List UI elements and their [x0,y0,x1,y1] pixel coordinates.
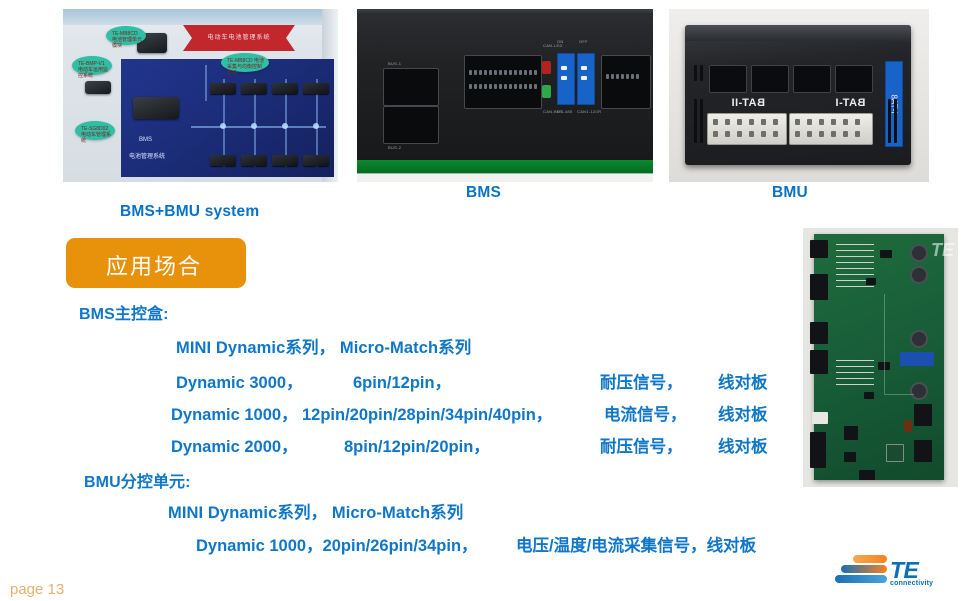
poster-bms-label-cn: 电池管理系统 [129,151,165,160]
poster-diagram-panel: BMS 电池管理系统 [121,59,334,177]
bms-led-green [542,85,551,98]
pcb-ic-2 [866,278,876,285]
poster-module-6 [241,155,267,166]
pcb-ic-1 [880,250,892,258]
bms-row-1-pins: 6pin/12pin， [353,369,451,393]
bmu-black-connector-3 [793,65,831,93]
bmu-top-face [685,25,911,41]
bmu-black-connector-1 [709,65,747,93]
bms-row-3-type: 线对板 [718,433,768,457]
bmu-white-connector-bat2 [707,113,787,145]
pcb-board [814,234,944,480]
bmu-vent-3 [694,99,697,143]
te-connectivity-logo: TE connectivity [833,553,933,593]
bmu-black-connector-2 [751,65,789,93]
pcb-pad-row-13 [836,384,874,385]
poster-callout-1: TE-MB8CD 电池管理单元模块 [106,26,146,45]
pcb-blue-connector [900,352,934,366]
bmu-vent-4 [700,99,703,143]
bmu-black-connector-4 [835,65,873,93]
caption-bms-bmu-system: BMS+BMU system [120,203,259,221]
poster-callout-2-text: TE-BMP-V1 电动车运用监控系统 [78,61,108,79]
bms-front-face: BUS-1 BUS-2 CAN-LED CAN-BUS RS-485 CAN1-… [357,13,653,160]
pcb-connector-bottom [859,470,875,480]
poster-module-2 [241,83,267,94]
caption-bms: BMS [466,184,501,202]
bms-row-3-series: Dynamic 2000， [171,433,298,457]
bms-signal-pinrow-top [469,70,537,75]
poster-branch-5 [205,65,207,101]
logo-bar-orange-bottom [841,565,887,573]
bms-silk-rs485: RS-485 [557,109,572,114]
poster-module-8 [303,155,329,166]
poster-module-7 [272,155,298,166]
caption-bmu: BMU [772,184,808,202]
bmu-vent-1 [694,65,697,81]
pcb-pad-row-11 [836,372,874,373]
bmu-white-connector-bat1 [789,113,873,145]
bms-silk-on: ON [557,39,564,44]
logo-bar-blue [835,575,887,583]
poster-callout-4-text: TE-MB8CD 电池采集与均衡控制模块 [227,58,265,76]
te-watermark: TE [931,240,954,261]
bmu-row-0-series: MINI Dynamic系列， Micro-Match系列 [168,499,463,523]
section-tab-application[interactable]: 应用场合 [66,238,246,288]
poster-node-4 [313,123,319,129]
pcb-pad-row-4 [836,262,874,263]
bms-row-1-signal: 耐压信号， [600,369,683,393]
bms-row-3-signal: 耐压信号， [600,433,683,457]
pcb-capacitor [904,420,912,432]
bms-row-3-pins: 8pin/12pin/20pin， [344,433,490,457]
bms-silk-off: OFF [579,39,588,44]
poster-device-photo-2 [85,81,111,94]
bmu-label-bat2: BAT-II [731,97,765,109]
pcb-ic-4 [864,392,874,399]
bmu-pcb-board-photo: TE [803,228,958,487]
bmu-label-bat1: BAT-I [835,97,865,109]
poster-top-band [63,9,338,25]
bms-silk-bus2: BUS-2 [388,145,401,150]
bms-row-2-type: 线对板 [718,401,768,425]
poster-node-3 [282,123,288,129]
poster-bms-label-en: BMS [139,137,152,143]
pcb-pad-row-2 [836,250,874,251]
bmu-module-photo: BAT-II BAT-I I-TA8 [669,9,929,182]
bmu-vent-5 [888,99,891,143]
bms-comm-connector [601,55,651,109]
pcb-mcu [844,426,858,440]
bms-row-2-signal: 电流信号， [604,401,687,425]
bms-controller-photo: BUS-1 BUS-2 CAN-LED CAN-BUS RS-485 CAN1-… [357,9,653,182]
exhibition-poster-photo: 电动车电池管理系统 BMS 电池管理系统 [63,9,338,182]
section-tab-label: 应用场合 [106,249,202,281]
bmu-row-1-signal: 电压/温度/电流采集信号，线对板 [516,532,756,556]
pcb-ic-5 [844,452,856,462]
poster-callout-2: TE-BMP-V1 电动车运用监控系统 [72,56,112,75]
poster-callout-4: TE-MB8CD 电池采集与均衡控制模块 [221,53,269,72]
bms-row-2-pins: 12pin/20pin/28pin/34pin/40pin， [302,401,552,425]
pcb-pad-row-8 [836,286,874,287]
pcb-relay-3 [910,330,928,348]
bms-signal-header [464,55,542,109]
bmu-row-1-series: Dynamic 1000，20pin/26pin/34pin， [196,532,478,556]
poster-bms-unit [133,97,179,119]
poster-module-3 [272,83,298,94]
pcb-relay-2 [910,266,928,284]
poster-callout-3: TE-SG8D02 电动车管理系统 [75,121,115,140]
bms-power-connector-bottom [383,106,439,144]
bms-signal-pinrow-bottom [469,84,537,89]
bms-row-0-series: MINI Dynamic系列， Micro-Match系列 [176,334,471,358]
poster-node-1 [220,123,226,129]
pcb-connector-left-1 [810,240,828,258]
pcb-pad-row-6 [836,274,874,275]
pcb-connector-left-2 [810,274,828,300]
bms-row-2-series: Dynamic 1000， [171,401,298,425]
pcb-white-connector [812,412,828,424]
bms-dip-switch-1[interactable] [557,53,575,105]
pcb-qfp-chip [886,444,904,462]
logo-bar-orange-top [853,555,887,563]
pcb-dsub-2 [914,440,932,462]
poster-module-5 [210,155,236,166]
bmu-vent-2 [700,65,703,81]
pcb-pad-row-3 [836,256,874,257]
pcb-relay-1 [910,244,928,262]
poster-title-text: 电动车电池管理系统 [183,32,295,41]
pcb-connector-left-4 [810,350,828,374]
poster-module-1 [210,83,236,94]
logo-tagline: connectivity [890,580,933,587]
page-number: page 13 [10,581,64,598]
poster-bus-line [191,126,326,128]
pcb-pad-row-9 [836,360,874,361]
bms-power-connector-top [383,68,439,106]
pcb-pad-row-5 [836,268,874,269]
heading-bms-main-box: BMS主控盒: [79,300,169,324]
poster-title-ribbon: 电动车电池管理系统 [183,25,295,51]
heading-bmu-sub-unit: BMU分控单元: [84,468,191,492]
bms-comm-pinrow [606,74,639,79]
pcb-dsub-1 [914,404,932,426]
poster-module-4 [303,83,329,94]
pcb-pad-row-12 [836,378,874,379]
slide-canvas: 电动车电池管理系统 BMS 电池管理系统 [0,0,964,601]
bms-green-backdrop [357,160,653,182]
bms-row-1-type: 线对板 [718,369,768,393]
pcb-connector-left-3 [810,322,828,344]
bms-silk-bus1: BUS-1 [388,61,401,66]
pcb-trace-2 [884,394,914,395]
bmu-housing: BAT-II BAT-I I-TA8 [685,25,911,165]
bms-led-red [542,61,551,74]
bms-silk-can1-120r: CAN1-120R [577,109,601,114]
bms-dip-switch-2[interactable] [577,53,595,105]
poster-callout-3-text: TE-SG8D02 电动车管理系统 [81,126,111,144]
pcb-trace-1 [884,294,885,394]
pcb-relay-4 [910,382,928,400]
bms-row-1-series: Dynamic 3000， [176,369,303,393]
poster-node-2 [251,123,257,129]
pcb-connector-left-5 [810,432,826,468]
pcb-pad-row-1 [836,244,874,245]
bmu-vent-6 [894,99,897,143]
pcb-pad-row-10 [836,366,874,367]
poster-callout-1-text: TE-MB8CD 电池管理单元模块 [112,31,142,49]
